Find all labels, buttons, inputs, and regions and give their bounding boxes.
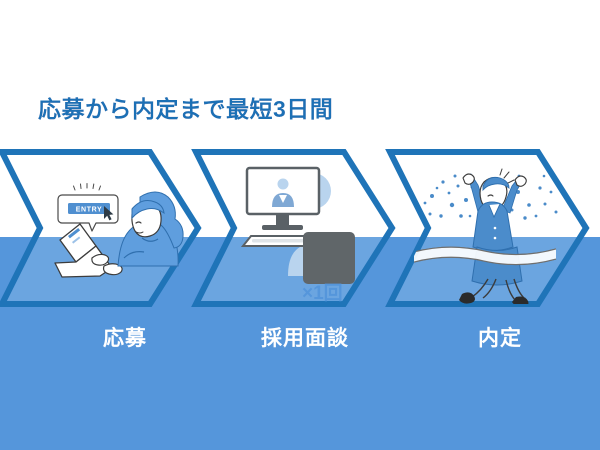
chair-back-shape xyxy=(303,232,355,284)
slide-canvas: 応募から内定まで最短3日間 ENTRY xyxy=(0,0,600,450)
step-label-offer: 内定 xyxy=(478,326,522,350)
step-label-interview: 採用面談 xyxy=(261,326,349,350)
page-title: 応募から内定まで最短3日間 xyxy=(38,96,333,122)
interview-count-label: ×1回 xyxy=(302,282,343,304)
step-label-apply: 応募 xyxy=(103,326,147,350)
entry-button-label: ENTRY xyxy=(76,206,102,213)
